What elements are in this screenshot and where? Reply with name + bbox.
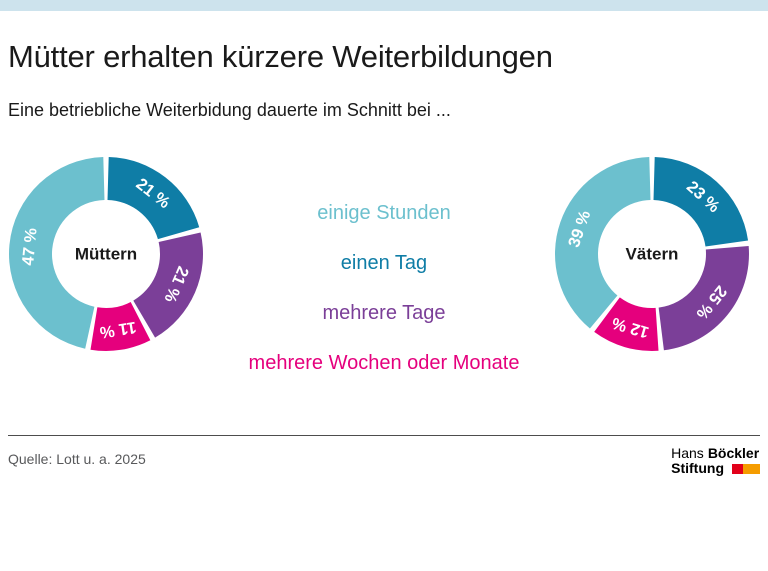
logo-word-hans: Hans xyxy=(671,446,704,461)
donut-chart-vaetern: 23 %25 %12 %39 % Vätern xyxy=(552,154,752,354)
donut-center-label-muettern: Müttern xyxy=(75,245,137,264)
legend-item-mehrere-tage: mehrere Tage xyxy=(214,302,554,324)
charts-container: 21 %21 %11 %47 % Müttern 23 %25 %12 %39 … xyxy=(0,140,768,430)
legend-item-mehrere-wochen-oder-monate: mehrere Wochen oder Monate xyxy=(214,352,554,374)
logo-mark-red-icon xyxy=(732,464,743,474)
source-note: Quelle: Lott u. a. 2025 xyxy=(8,450,146,468)
logo-line-one: Hans Böckler xyxy=(671,446,760,461)
legend-item-einen-tag: einen Tag xyxy=(214,252,554,274)
hans-boeckler-stiftung-logo: Hans Böckler Stiftung xyxy=(671,446,760,476)
donut-chart-muettern: 21 %21 %11 %47 % Müttern xyxy=(6,154,206,354)
legend-item-einige-stunden: einige Stunden xyxy=(214,202,554,224)
page-subtitle: Eine betriebliche Weiterbidung dauerte i… xyxy=(8,99,748,121)
donut-center-label-vaetern: Vätern xyxy=(626,245,679,264)
logo-mark-orange-icon xyxy=(743,464,760,474)
top-accent-bar xyxy=(0,0,768,11)
logo-line-two: Stiftung xyxy=(671,461,760,476)
page-title: Mütter erhalten kürzere Weiterbildungen xyxy=(8,39,748,75)
logo-word-stiftung: Stiftung xyxy=(671,461,724,476)
logo-color-marks xyxy=(732,464,760,474)
footer-divider xyxy=(8,435,760,436)
infographic-root: Mütter erhalten kürzere Weiterbildungen … xyxy=(0,0,768,571)
donut-slice-label: 47 % xyxy=(19,227,40,266)
chart-legend: einige Stunden einen Tag mehrere Tage me… xyxy=(214,202,554,374)
logo-word-boeckler: Böckler xyxy=(708,446,759,461)
